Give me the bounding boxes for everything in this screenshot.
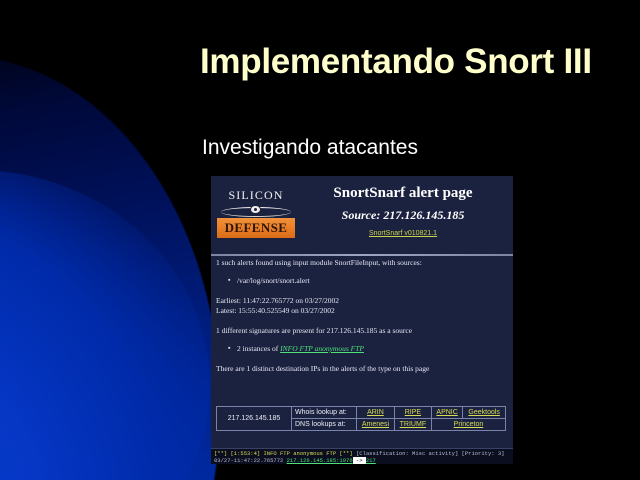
snortsnarf-header: SILICON DEFENSE SnortSnarf alert page So… (211, 176, 513, 252)
signature-item: 2 instances of INFO FTP anonymous FTP (211, 344, 513, 354)
page-title: SnortSnarf alert page (299, 184, 507, 202)
header-divider (211, 254, 513, 256)
earliest-line: Earliest: 11:47:22.765772 on 03/27/2002 (211, 296, 513, 306)
header-text-block: SnortSnarf alert page Source: 217.126.14… (299, 184, 507, 239)
alert-log-signature: [**] [1:553:4] INFO FTP anonymous FTP [*… (214, 450, 353, 457)
destinations-line: There are 1 distinct destination IPs in … (211, 364, 513, 374)
logo-eye-icon (221, 203, 291, 217)
embedded-browser-screenshot: SILICON DEFENSE SnortSnarf alert page So… (211, 176, 513, 464)
slide-subtitle: Investigando atacantes (202, 136, 622, 160)
alert-log-source-ip-link[interactable]: 217.126.145.185:1076 (287, 457, 353, 464)
source-file-path: /var/log/snort/snort.alert (237, 276, 310, 285)
signature-count: 2 instances of (237, 344, 280, 353)
dns-link-princeton[interactable]: Princeton (431, 419, 505, 431)
whois-link-geektools[interactable]: Geektools (463, 407, 506, 419)
alert-log-classification: [Classification: Misc activity] [Priorit… (356, 450, 505, 457)
alert-log-dest-ip-link[interactable]: 217 (366, 457, 376, 464)
source-file-item: /var/log/snort/snort.alert (211, 276, 513, 286)
presentation-slide: Implementando Snort III Investigando ata… (0, 0, 640, 480)
signatures-line: 1 different signatures are present for 2… (211, 326, 513, 336)
whois-link-apnic[interactable]: APNIC (431, 407, 462, 419)
lookup-ip-cell: 217.126.145.185 (217, 407, 292, 431)
dns-link-amenesi[interactable]: Amenesi (357, 419, 395, 431)
logo-silicon-text: SILICON (219, 188, 293, 203)
whois-label: Whois lookup at: (292, 407, 357, 419)
report-body: 1 such alerts found using input module S… (211, 258, 513, 374)
silicon-defense-logo: SILICON DEFENSE (217, 188, 295, 242)
logo-defense-banner: DEFENSE (217, 218, 295, 238)
alert-log-line-1: [**] [1:553:4] INFO FTP anonymous FTP [*… (214, 450, 510, 457)
summary-line: 1 such alerts found using input module S… (211, 258, 513, 268)
alert-log-selection: -> (353, 457, 366, 464)
source-heading: Source: 217.126.145.185 (299, 207, 507, 223)
alert-log-panel: [**] [1:553:4] INFO FTP anonymous FTP [*… (211, 448, 513, 464)
lookup-table: 217.126.145.185 Whois lookup at: ARIN RI… (216, 406, 506, 431)
version-link[interactable]: SnortSnarf v010821.1 (299, 229, 507, 239)
alert-log-line-2: 03/27-11:47:22.765772 217.126.145.185:10… (214, 457, 510, 464)
alert-log-timestamp: 03/27-11:47:22.765772 (214, 457, 287, 464)
dns-label: DNS lookups at: (292, 419, 357, 431)
whois-link-arin[interactable]: ARIN (357, 407, 395, 419)
latest-line: Latest: 15:55:40.525549 on 03/27/2002 (211, 306, 513, 316)
dns-link-triumf[interactable]: TRIUMF (394, 419, 431, 431)
slide-title: Implementando Snort III (200, 44, 620, 80)
table-row: 217.126.145.185 Whois lookup at: ARIN RI… (217, 407, 506, 419)
whois-link-ripe[interactable]: RIPE (394, 407, 431, 419)
signature-link[interactable]: INFO FTP anonymous FTP (280, 344, 364, 353)
